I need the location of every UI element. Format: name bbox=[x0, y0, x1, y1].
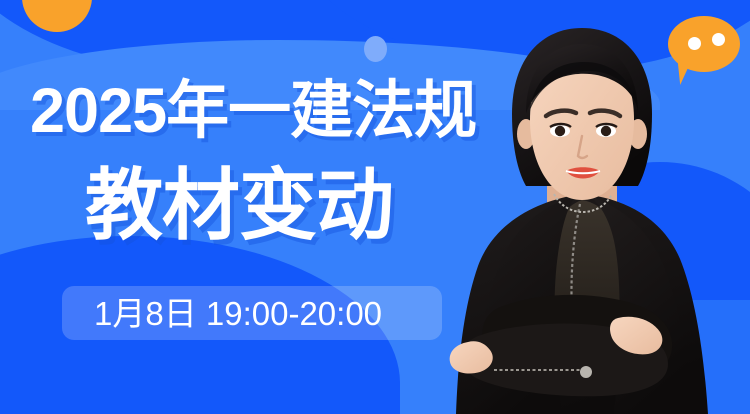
dot-icon bbox=[364, 36, 387, 62]
instructor-portrait bbox=[442, 18, 722, 414]
banner-title-line-2: 教材变动 bbox=[85, 166, 393, 244]
background-bottom-fill bbox=[0, 330, 300, 414]
banner-title-line-1: 2025年一建法规 bbox=[30, 80, 476, 143]
promo-banner: 2025年一建法规 教材变动 1月8日 19:00-20:00 bbox=[0, 0, 750, 414]
schedule-text: 1月8日 19:00-20:00 bbox=[94, 296, 382, 332]
